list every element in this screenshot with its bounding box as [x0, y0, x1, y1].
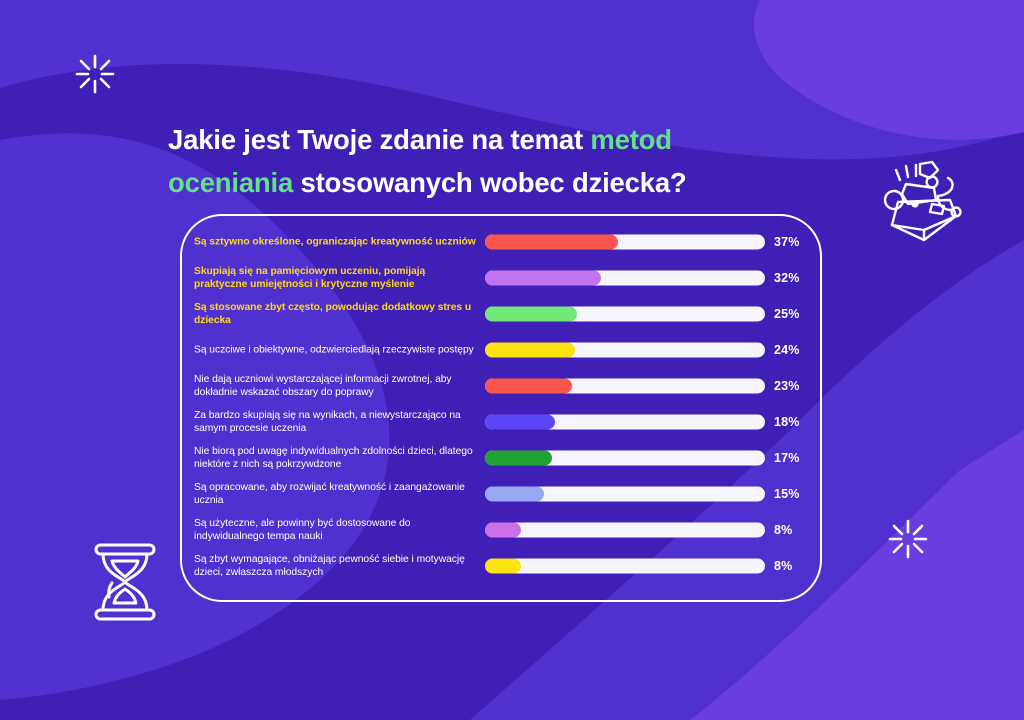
sparkle-icon	[71, 50, 119, 98]
chart-row-label: Są uczciwe i obiektywne, odzwierciedlają…	[194, 343, 479, 356]
bar-fill	[485, 415, 555, 430]
bar-track	[485, 451, 765, 466]
chart-row-value: 8%	[774, 559, 792, 573]
bar-fill	[485, 451, 552, 466]
chart-row-label: Są sztywno określone, ograniczając kreat…	[194, 235, 479, 248]
chart-row-value: 17%	[774, 451, 800, 465]
chart-row-label: Są opracowane, aby rozwijać kreatywność …	[194, 481, 479, 507]
chart-row: Za bardzo skupiają się na wynikach, a ni…	[194, 404, 814, 440]
hourglass-icon	[88, 541, 162, 623]
infographic-canvas: Jakie jest Twoje zdanie na temat metod o…	[0, 0, 1024, 720]
chart-row-label: Nie biorą pod uwagę indywidualnych zdoln…	[194, 445, 479, 471]
chart-row: Są opracowane, aby rozwijać kreatywność …	[194, 476, 814, 512]
bar-fill	[485, 559, 521, 574]
bar-track	[485, 307, 765, 322]
bar-fill	[485, 235, 618, 250]
chart-row-label: Za bardzo skupiają się na wynikach, a ni…	[194, 409, 479, 435]
chart-row: Są użyteczne, ale powinny być dostosowan…	[194, 512, 814, 548]
bar-track	[485, 559, 765, 574]
title-highlight-2: oceniania	[168, 167, 293, 198]
chart-row: Nie dają uczniowi wystarczającej informa…	[194, 368, 814, 404]
title-segment-2: stosowanych wobec dziecka?	[293, 167, 686, 198]
bar-chart: Są sztywno określone, ograniczając kreat…	[194, 224, 814, 584]
chart-row-label: Są użyteczne, ale powinny być dostosowan…	[194, 517, 479, 543]
chart-row: Są sztywno określone, ograniczając kreat…	[194, 224, 814, 260]
chart-row: Są zbyt wymagające, obniżając pewność si…	[194, 548, 814, 584]
sparkle-icon	[884, 515, 932, 563]
chart-row-value: 15%	[774, 487, 800, 501]
bar-fill	[485, 379, 572, 394]
bar-fill	[485, 307, 577, 322]
bar-track	[485, 487, 765, 502]
chart-row-value: 25%	[774, 307, 800, 321]
chart-row-value: 23%	[774, 379, 800, 393]
bar-track	[485, 523, 765, 538]
title-segment-1: Jakie jest Twoje zdanie na temat	[168, 124, 590, 155]
chart-row-value: 32%	[774, 271, 800, 285]
bar-track	[485, 235, 765, 250]
bar-fill	[485, 343, 575, 358]
bar-track	[485, 379, 765, 394]
page-title: Jakie jest Twoje zdanie na temat metod o…	[168, 118, 868, 204]
chart-row-value: 37%	[774, 235, 800, 249]
title-highlight-1: metod	[590, 124, 672, 155]
toolbox-icon	[876, 160, 972, 244]
chart-row-value: 18%	[774, 415, 800, 429]
chart-row-label: Nie dają uczniowi wystarczającej informa…	[194, 373, 479, 399]
chart-row-label: Są stosowane zbyt często, powodując doda…	[194, 301, 479, 327]
chart-row: Nie biorą pod uwagę indywidualnych zdoln…	[194, 440, 814, 476]
chart-row-value: 8%	[774, 523, 792, 537]
chart-row: Skupiają się na pamięciowym uczeniu, pom…	[194, 260, 814, 296]
bar-fill	[485, 271, 601, 286]
chart-row-value: 24%	[774, 343, 800, 357]
bar-fill	[485, 487, 544, 502]
bar-fill	[485, 523, 521, 538]
chart-row: Są stosowane zbyt często, powodując doda…	[194, 296, 814, 332]
bar-track	[485, 343, 765, 358]
bar-track	[485, 415, 765, 430]
chart-row-label: Skupiają się na pamięciowym uczeniu, pom…	[194, 265, 479, 291]
chart-row-label: Są zbyt wymagające, obniżając pewność si…	[194, 553, 479, 579]
chart-row: Są uczciwe i obiektywne, odzwierciedlają…	[194, 332, 814, 368]
bar-track	[485, 271, 765, 286]
